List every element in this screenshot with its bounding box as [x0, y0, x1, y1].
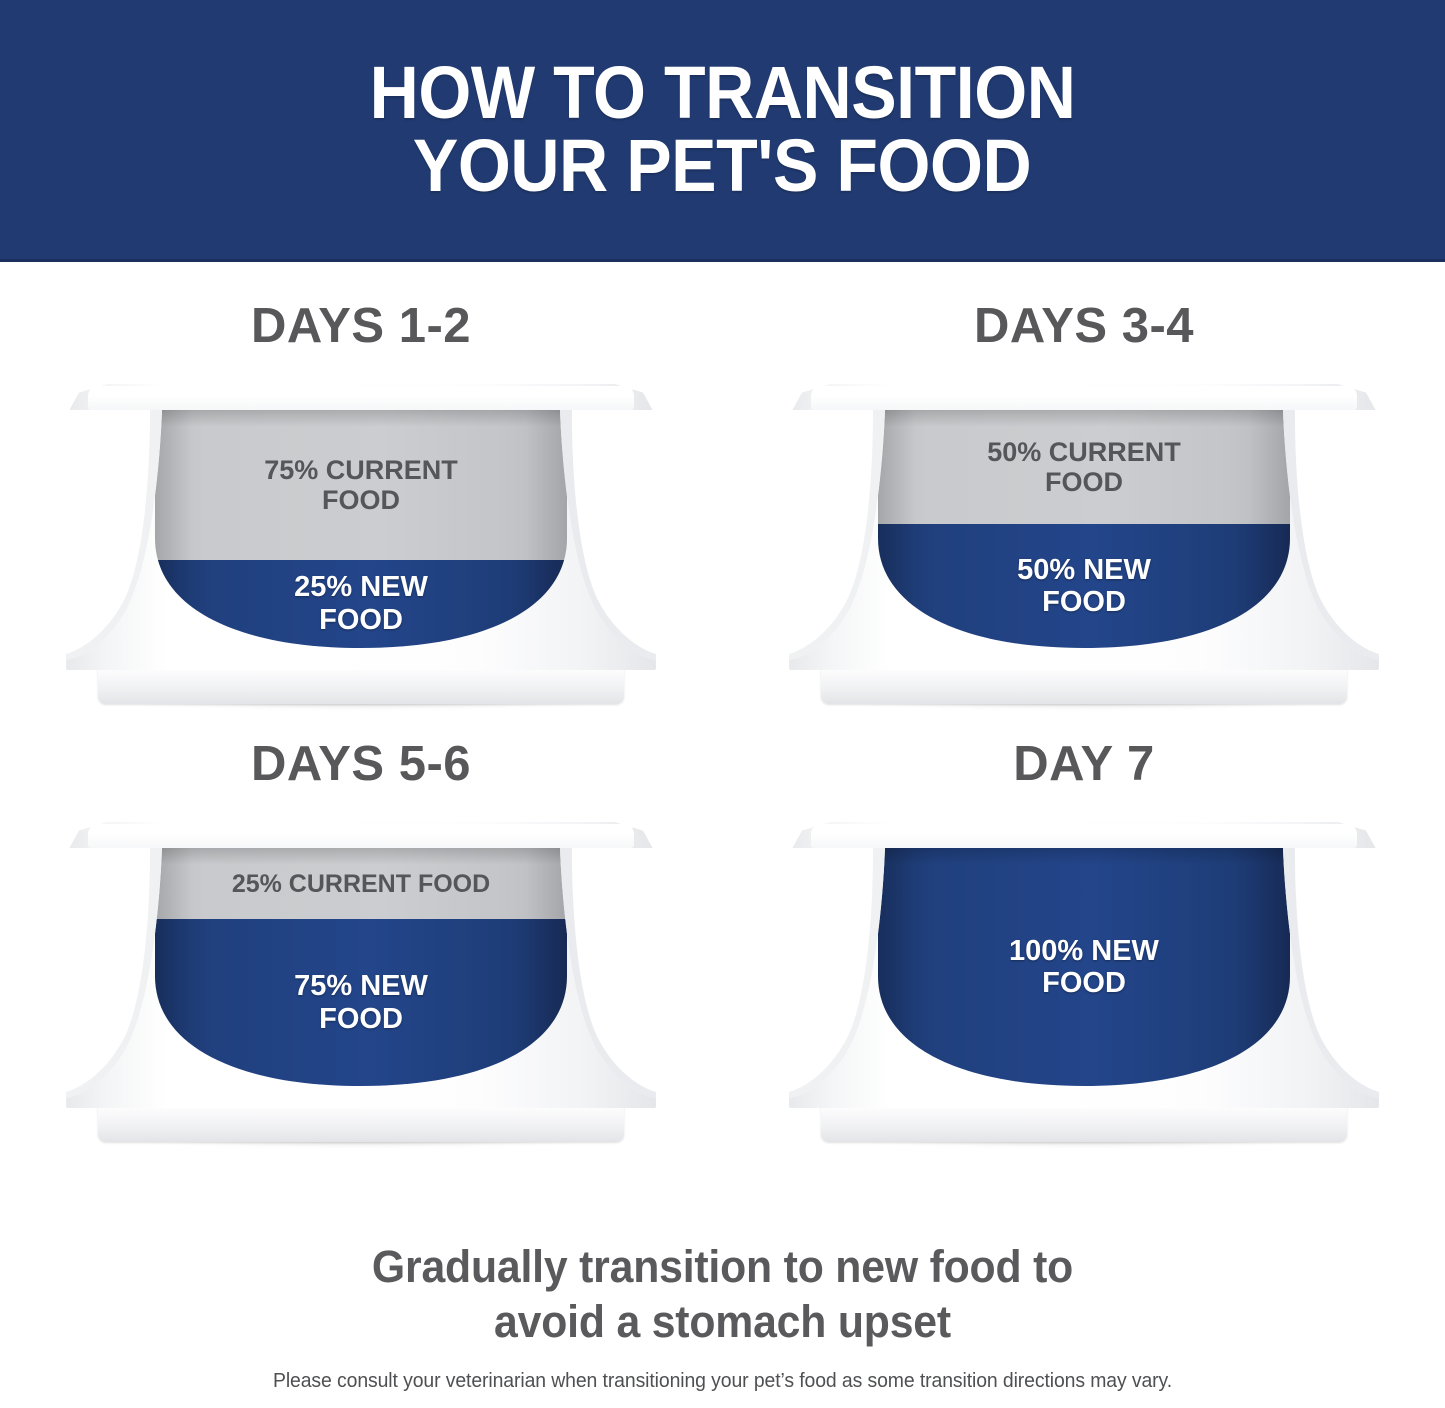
new-food-label-line-2: FOOD	[319, 604, 403, 636]
current-food-label-line-2: FOOD	[1045, 467, 1123, 497]
current-food-label: 75% CURRENT FOOD	[155, 455, 567, 515]
new-food-fill: 100% NEW FOOD	[878, 848, 1290, 1086]
footer-disclaimer: Please consult your veterinarian when tr…	[22, 1370, 1424, 1393]
transition-step-3: DAYS 5-6 25% CURRENT FOOD	[0, 740, 722, 1210]
header-band: HOW TO TRANSITION YOUR PET'S FOOD	[0, 0, 1445, 262]
bowl-cavity: 25% CURRENT FOOD 75% NEW FOOD	[155, 848, 567, 1086]
new-food-label-line-1: 25% NEW	[294, 571, 428, 603]
transition-step-1: DAYS 1-2 75% CURRENT FOOD	[0, 302, 722, 772]
new-food-label-line-1: 75% NEW	[294, 970, 428, 1002]
step-title-days-5-6: DAYS 5-6	[0, 740, 722, 789]
bowl-fill-stack: 50% CURRENT FOOD 50% NEW FOOD	[878, 410, 1290, 648]
new-food-label: 100% NEW FOOD	[878, 935, 1290, 1000]
food-bowl-days-5-6: 25% CURRENT FOOD 75% NEW FOOD	[66, 822, 656, 1142]
transition-step-4: DAY 7 100% NEW FOOD	[723, 740, 1445, 1210]
current-food-label: 50% CURRENT FOOD	[878, 437, 1290, 497]
page-title-line-1: HOW TO TRANSITION	[370, 57, 1076, 130]
bowl-fill-stack: 100% NEW FOOD	[878, 848, 1290, 1086]
current-food-fill: 75% CURRENT FOOD	[155, 410, 567, 560]
current-food-fill: 25% CURRENT FOOD	[155, 848, 567, 919]
food-bowl-days-1-2: 75% CURRENT FOOD 25% NEW FOOD	[66, 384, 656, 704]
step-title-day-7: DAY 7	[723, 740, 1445, 789]
bowl-rim	[88, 824, 634, 848]
current-food-label-line-2: FOOD	[322, 485, 400, 515]
footer-tagline: Gradually transition to new food to avoi…	[36, 1240, 1409, 1350]
bowl-fill-stack: 75% CURRENT FOOD 25% NEW FOOD	[155, 410, 567, 648]
bowl-cavity: 100% NEW FOOD	[878, 848, 1290, 1086]
new-food-label-line-2: FOOD	[319, 1003, 403, 1035]
bowl-fill-stack: 25% CURRENT FOOD 75% NEW FOOD	[155, 848, 567, 1086]
new-food-label-line-2: FOOD	[1042, 586, 1126, 618]
bowl-cavity: 50% CURRENT FOOD 50% NEW FOOD	[878, 410, 1290, 648]
page-title-line-2: YOUR PET'S FOOD	[413, 130, 1031, 203]
step-title-days-1-2: DAYS 1-2	[0, 302, 722, 351]
step-title-days-3-4: DAYS 3-4	[723, 302, 1445, 351]
transition-step-2: DAYS 3-4 50% CURRENT FOOD	[723, 302, 1445, 772]
new-food-label-line-1: 100% NEW	[1009, 935, 1159, 967]
current-food-label-line-1: 75% CURRENT	[264, 455, 458, 485]
current-food-label: 25% CURRENT FOOD	[155, 870, 567, 898]
bowl-cavity: 75% CURRENT FOOD 25% NEW FOOD	[155, 410, 567, 648]
new-food-label-line-2: FOOD	[1042, 967, 1126, 999]
bowl-rim	[811, 824, 1357, 848]
footer-tagline-line-2: avoid a stomach upset	[36, 1295, 1409, 1350]
current-food-label-line-1: 50% CURRENT	[987, 437, 1181, 467]
current-food-fill: 50% CURRENT FOOD	[878, 410, 1290, 524]
food-bowl-days-3-4: 50% CURRENT FOOD 50% NEW FOOD	[789, 384, 1379, 704]
transition-steps-grid: DAYS 1-2 75% CURRENT FOOD	[0, 262, 1445, 1222]
food-bowl-day-7: 100% NEW FOOD	[789, 822, 1379, 1142]
bowl-rim	[811, 386, 1357, 410]
new-food-label-line-1: 50% NEW	[1017, 554, 1151, 586]
footer-tagline-line-1: Gradually transition to new food to	[36, 1240, 1409, 1295]
new-food-label: 75% NEW FOOD	[155, 970, 567, 1035]
bowl-rim	[88, 386, 634, 410]
infographic-page: HOW TO TRANSITION YOUR PET'S FOOD DAYS 1…	[0, 0, 1445, 1408]
new-food-label: 50% NEW FOOD	[878, 554, 1290, 619]
current-food-label-line-1: 25% CURRENT FOOD	[232, 870, 490, 898]
